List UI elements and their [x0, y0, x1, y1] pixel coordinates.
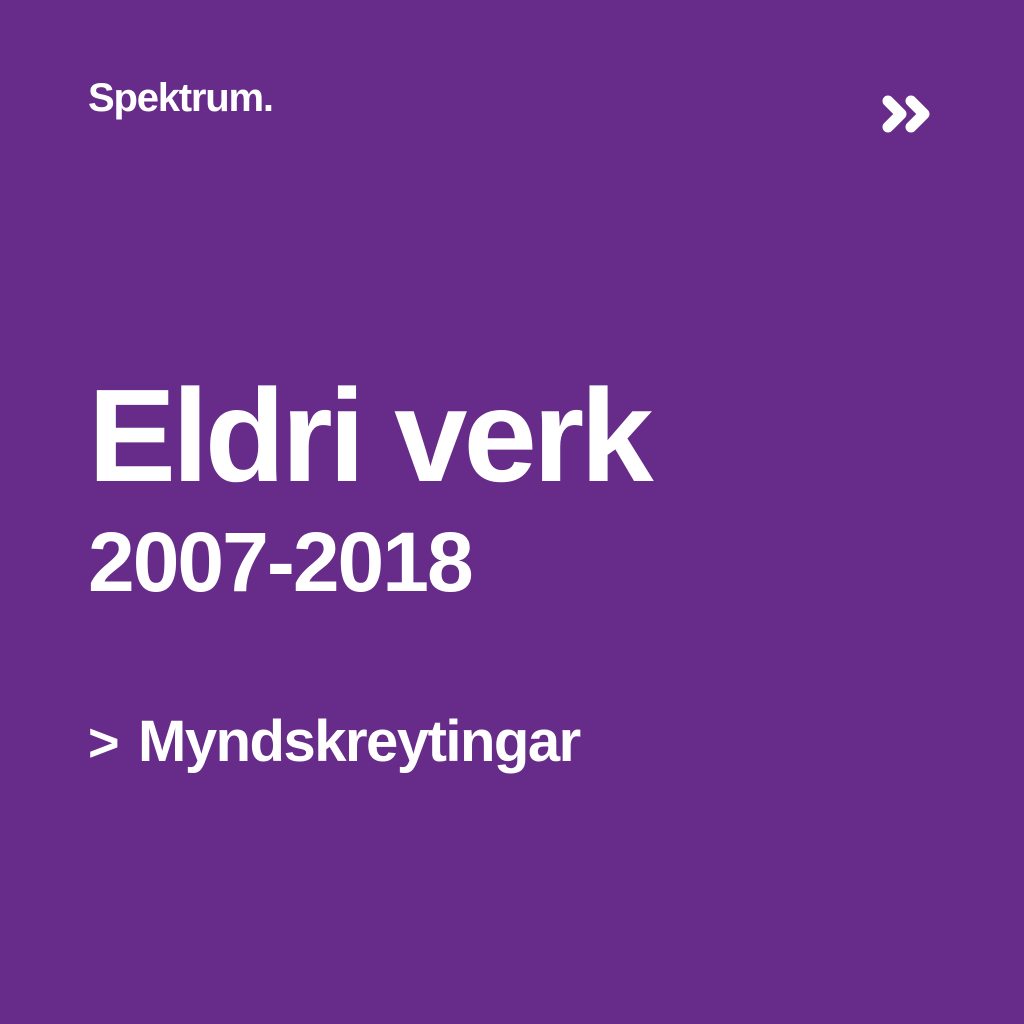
chevron-right-marker-icon: > [88, 715, 118, 772]
next-button[interactable] [876, 90, 936, 138]
card-content: Eldri verk 2007-2018 > Myndskreytingar [88, 370, 948, 773]
link-item-myndskreytingar[interactable]: > Myndskreytingar [88, 712, 580, 773]
link-item-label: Myndskreytingar [138, 712, 580, 773]
page-title: Eldri verk [88, 370, 948, 502]
double-chevron-right-icon [880, 94, 936, 134]
link-list: > Myndskreytingar [88, 712, 948, 773]
promo-card: Spektrum. Eldri verk 2007-2018 > Myndskr… [0, 0, 1024, 1024]
brand-logo: Spektrum. [88, 78, 273, 118]
page-subtitle: 2007-2018 [88, 520, 948, 604]
card-header: Spektrum. [0, 0, 1024, 200]
